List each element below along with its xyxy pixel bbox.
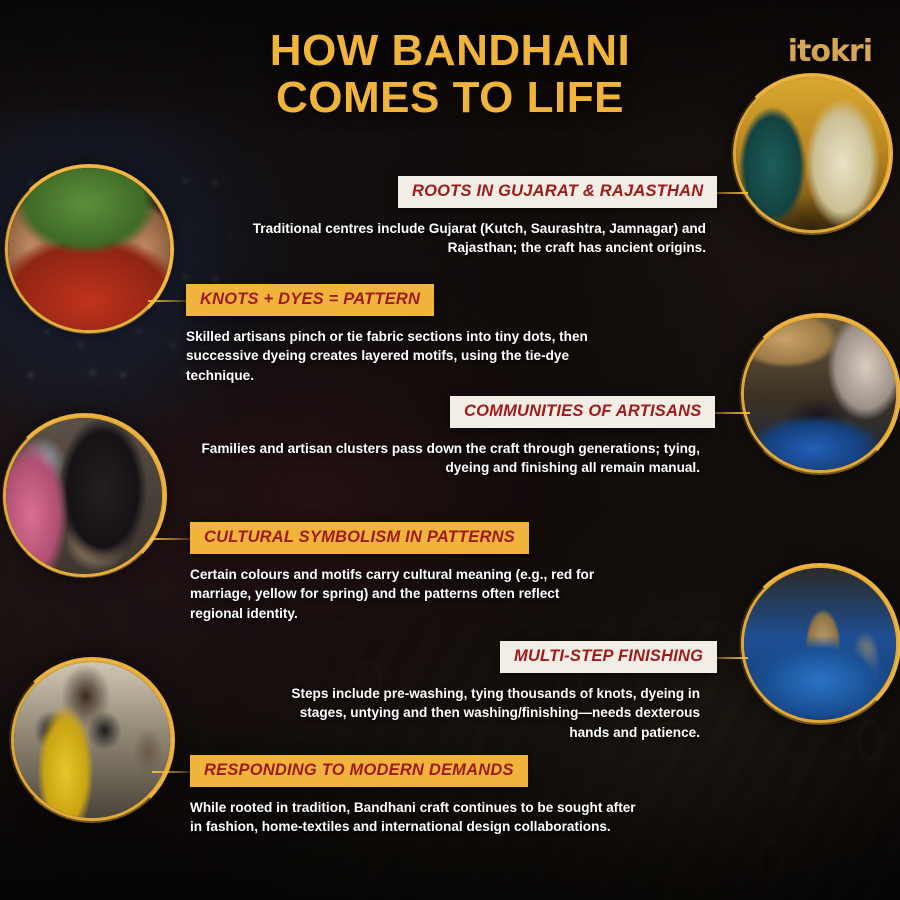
photo-image bbox=[736, 78, 888, 230]
section-body-roots: Traditional centres include Gujarat (Kut… bbox=[242, 219, 706, 258]
section-modern-demands: RESPONDING TO MODERN DEMANDS While roote… bbox=[190, 755, 650, 837]
section-body-cultural-symbolism: Certain colours and motifs carry cultura… bbox=[190, 565, 610, 623]
section-communities: COMMUNITIES OF ARTISANS Families and art… bbox=[450, 396, 700, 478]
photo-image bbox=[744, 568, 896, 720]
brand-logo: itokri bbox=[788, 34, 872, 69]
photo-image bbox=[8, 168, 170, 330]
section-body-communities: Families and artisan clusters pass down … bbox=[200, 439, 700, 478]
photo-indigo-dye-vat bbox=[744, 568, 896, 720]
photo-hands-tying-red-fabric bbox=[8, 168, 170, 330]
section-roots: ROOTS IN GUJARAT & RAJASTHAN Traditional… bbox=[398, 176, 706, 258]
section-body-modern-demands: While rooted in tradition, Bandhani craf… bbox=[190, 798, 650, 837]
connector-line-4 bbox=[150, 538, 194, 540]
infographic-canvas: HOW BANDHANI COMES TO LIFE itokri ROOTS … bbox=[0, 0, 900, 900]
section-knots-dyes: KNOTS + DYES = PATTERN Skilled artisans … bbox=[186, 284, 616, 385]
photo-women-tying-bandhani-knots bbox=[736, 78, 888, 230]
section-body-knots-dyes: Skilled artisans pinch or tie fabric sec… bbox=[186, 327, 616, 385]
section-band-multi-step-finishing: MULTI-STEP FINISHING bbox=[500, 641, 717, 673]
section-band-cultural-symbolism: CULTURAL SYMBOLISM IN PATTERNS bbox=[190, 522, 529, 554]
section-band-knots-dyes: KNOTS + DYES = PATTERN bbox=[186, 284, 434, 316]
photo-artisan-lifting-yellow-dyed-cloth bbox=[14, 662, 170, 818]
section-band-communities: COMMUNITIES OF ARTISANS bbox=[450, 396, 715, 428]
photo-image bbox=[6, 418, 162, 574]
page-title-line1: HOW BANDHANI bbox=[270, 26, 630, 75]
section-band-roots: ROOTS IN GUJARAT & RAJASTHAN bbox=[398, 176, 717, 208]
section-multi-step-finishing: MULTI-STEP FINISHING Steps include pre-w… bbox=[500, 641, 700, 742]
connector-line-6 bbox=[152, 771, 194, 773]
connector-line-2 bbox=[148, 300, 190, 302]
photo-image bbox=[744, 318, 896, 470]
photo-artisan-dyeing-in-blue-tub bbox=[744, 318, 896, 470]
section-cultural-symbolism: CULTURAL SYMBOLISM IN PATTERNS Certain c… bbox=[190, 522, 610, 623]
photo-image bbox=[14, 662, 170, 818]
section-band-modern-demands: RESPONDING TO MODERN DEMANDS bbox=[190, 755, 528, 787]
photo-artisan-family-tying-cloth bbox=[6, 418, 162, 574]
section-body-multi-step-finishing: Steps include pre-washing, tying thousan… bbox=[268, 684, 700, 742]
